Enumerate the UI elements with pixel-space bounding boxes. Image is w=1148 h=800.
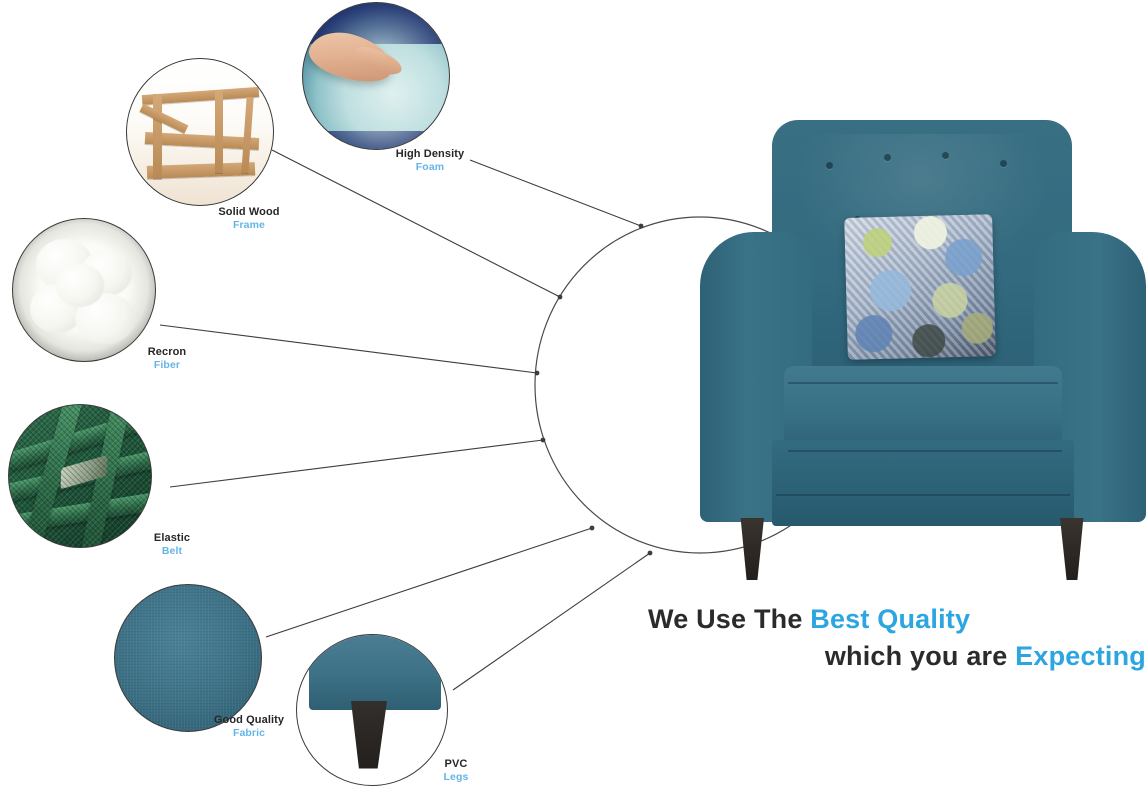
tagline-line-2: which you are Expecting	[640, 641, 1148, 672]
feature-label-line1: High Density	[330, 148, 530, 161]
feature-label-line1: PVC	[396, 758, 516, 771]
feature-caption-solid-wood-frame: Solid Wood Frame	[156, 206, 342, 231]
tagline-line1-blue: Best Quality	[810, 604, 970, 634]
feature-label-line1: Recron	[80, 346, 254, 359]
feature-caption-high-density-foam: High Density Foam	[330, 148, 530, 173]
feature-caption-pvc-legs: PVC Legs	[396, 758, 516, 783]
feature-label-line2: Legs	[396, 771, 516, 783]
product-armchair-image	[676, 120, 1148, 560]
tagline-line2-blue: Expecting	[1015, 641, 1146, 671]
tagline-line-1: We Use The Best Quality	[640, 604, 1148, 635]
infographic-canvas: High Density Foam Solid Wood Frame	[0, 0, 1148, 800]
feature-label-line1: Elastic	[92, 532, 252, 545]
chair-base-skirt	[772, 440, 1074, 526]
elastic-belt-icon	[8, 404, 152, 548]
wire-elastic-belt	[170, 440, 543, 487]
feature-label-line1: Solid Wood	[156, 206, 342, 219]
feature-label-line2: Belt	[92, 545, 252, 557]
tagline-line2-dark: which you are	[825, 641, 1008, 671]
floral-print-cushion	[844, 214, 996, 360]
wood-frame-icon	[126, 58, 274, 206]
chair-leg-right	[1060, 518, 1090, 580]
feature-label-line2: Frame	[156, 219, 342, 231]
tagline-line1-dark: We Use The	[648, 604, 803, 634]
tagline-block: We Use The Best Quality which you are Ex…	[640, 604, 1148, 672]
feature-caption-recron-fibre: Recron Fiber	[80, 346, 254, 371]
wire-good-quality-fabric	[266, 528, 592, 637]
chair-leg-left	[734, 518, 764, 580]
foam-press-icon	[302, 2, 450, 150]
fabric-swatch-icon	[114, 584, 262, 732]
feature-caption-elastic-belt: Elastic Belt	[92, 532, 252, 557]
wire-pvc-legs	[453, 553, 650, 690]
feature-label-line2: Fiber	[80, 359, 254, 371]
feature-label-line2: Foam	[330, 161, 530, 173]
fibre-fill-icon	[12, 218, 156, 362]
